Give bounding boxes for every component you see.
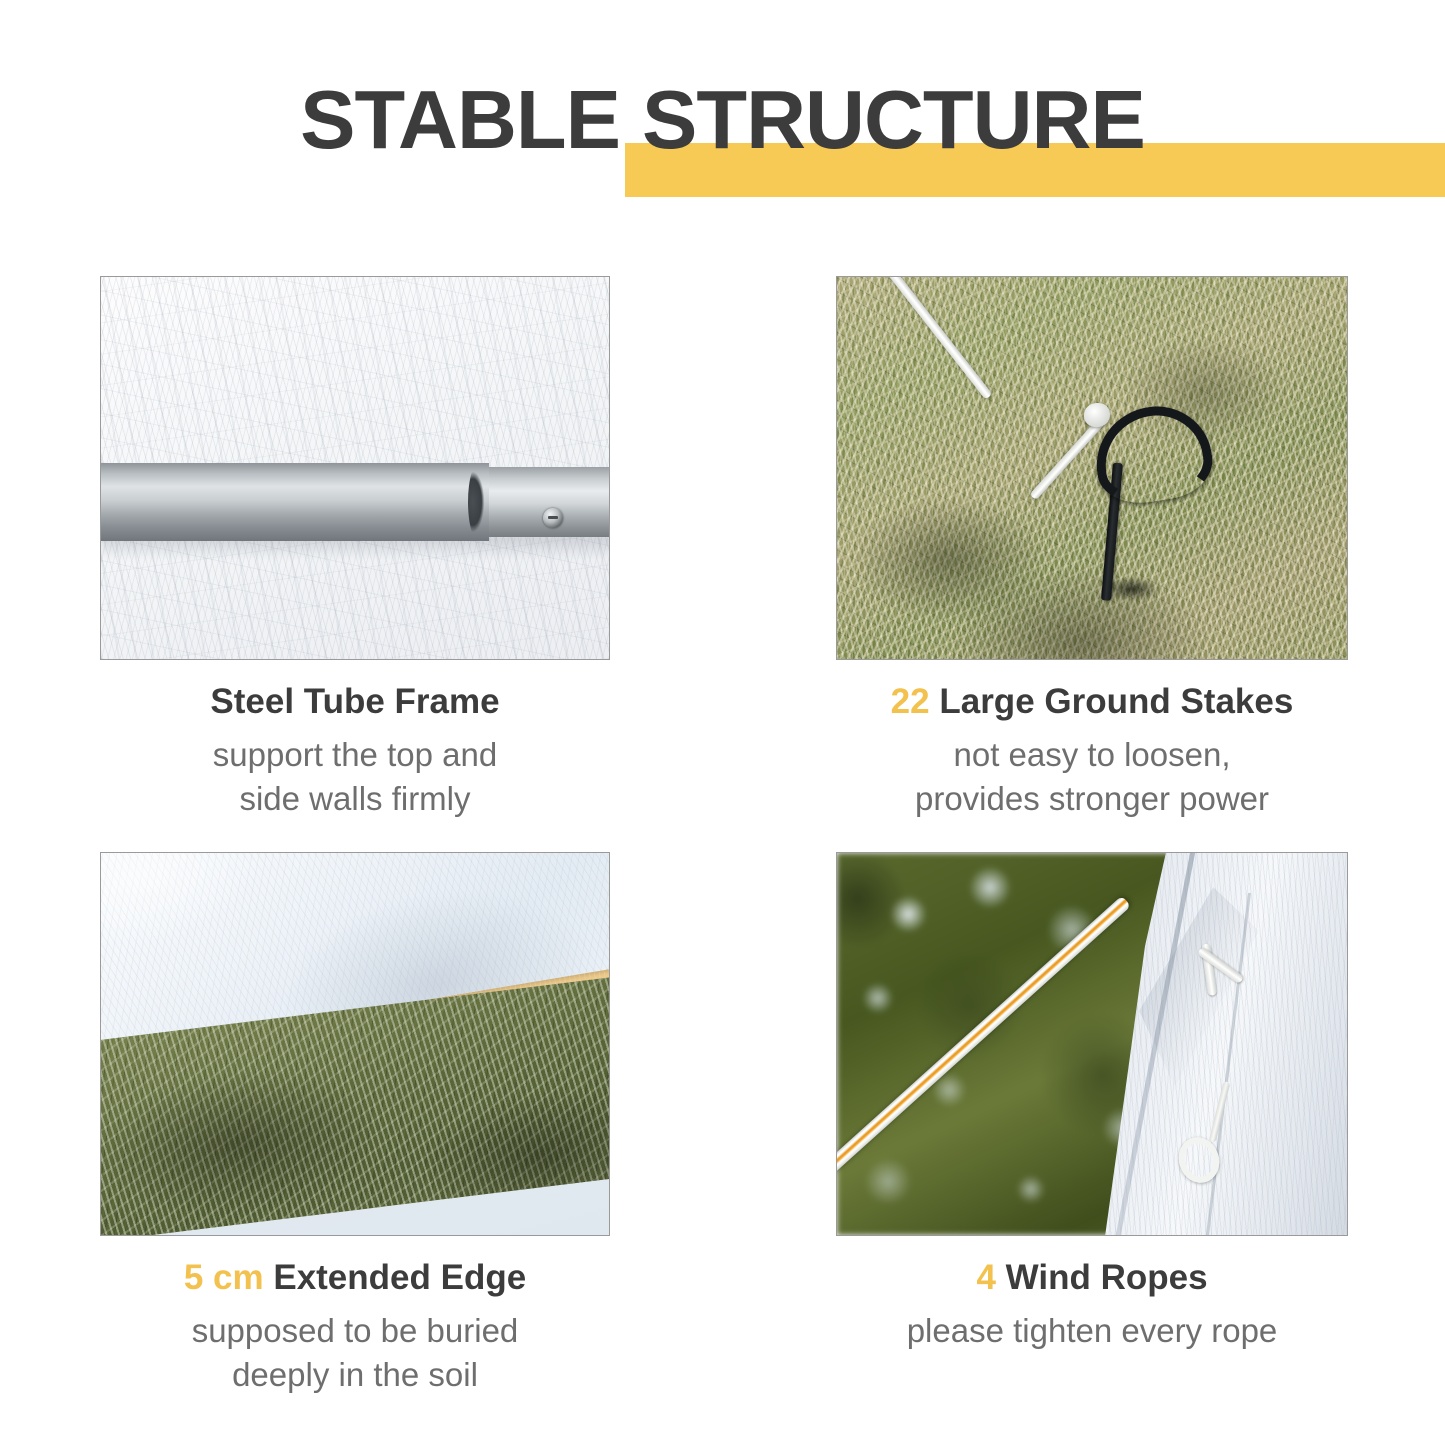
- feature-caption: 4 Wind Ropes please tighten every rope: [836, 1256, 1348, 1353]
- feature-accent-value: 5 cm: [184, 1258, 264, 1297]
- feature-subtitle-line: deeply in the soil: [100, 1353, 610, 1397]
- feature-subtitle-line: supposed to be buried: [100, 1309, 610, 1353]
- stake-ground-shadow: [1105, 577, 1159, 601]
- feature-caption: 5 cm Extended Edge supposed to be buried…: [100, 1256, 610, 1397]
- tube-screw-icon: [543, 508, 563, 528]
- steel-tube-outer-section: [100, 463, 489, 541]
- feature-subtitle-line: not easy to loosen,: [836, 733, 1348, 777]
- rope-knot: [1084, 403, 1110, 427]
- feature-caption: 22 Large Ground Stakes not easy to loose…: [836, 680, 1348, 821]
- feature-accent-value: 22: [891, 682, 930, 721]
- feature-subtitle: supposed to be buried deeply in the soil: [100, 1309, 610, 1397]
- feature-accent-value: 4: [976, 1258, 995, 1297]
- feature-title-text: Wind Ropes: [1006, 1258, 1208, 1297]
- feature-subtitle: not easy to loosen, provides stronger po…: [836, 733, 1348, 821]
- feature-subtitle-line: side walls firmly: [100, 777, 610, 821]
- steel-tube-frame-photo: [100, 276, 610, 660]
- feature-title: Steel Tube Frame: [100, 680, 610, 724]
- extended-edge-photo: [100, 852, 610, 1236]
- feature-subtitle: please tighten every rope: [836, 1309, 1348, 1353]
- feature-card-extended-edge: 5 cm Extended Edge supposed to be buried…: [100, 852, 610, 1397]
- ground-stake-photo: [836, 276, 1348, 660]
- feature-caption: Steel Tube Frame support the top and sid…: [100, 680, 610, 821]
- feature-title-text: Large Ground Stakes: [939, 682, 1293, 721]
- feature-card-wind-ropes: 4 Wind Ropes please tighten every rope: [836, 852, 1348, 1353]
- feature-title: 4 Wind Ropes: [836, 1256, 1348, 1300]
- feature-subtitle-line: support the top and: [100, 733, 610, 777]
- feature-card-steel-tube-frame: Steel Tube Frame support the top and sid…: [100, 276, 610, 821]
- wind-rope-photo: [836, 852, 1348, 1236]
- feature-title: 5 cm Extended Edge: [100, 1256, 610, 1300]
- feature-subtitle: support the top and side walls firmly: [100, 733, 610, 821]
- feature-subtitle-line: please tighten every rope: [836, 1309, 1348, 1353]
- grass-background: [837, 277, 1347, 659]
- feature-subtitle-line: provides stronger power: [836, 777, 1348, 821]
- feature-title-text: Steel Tube Frame: [210, 682, 499, 721]
- feature-card-large-ground-stakes: 22 Large Ground Stakes not easy to loose…: [836, 276, 1348, 821]
- feature-title: 22 Large Ground Stakes: [836, 680, 1348, 724]
- page-header: STABLE STRUCTURE: [0, 0, 1445, 250]
- page-title: STABLE STRUCTURE: [0, 78, 1445, 161]
- feature-title-text: Extended Edge: [273, 1258, 526, 1297]
